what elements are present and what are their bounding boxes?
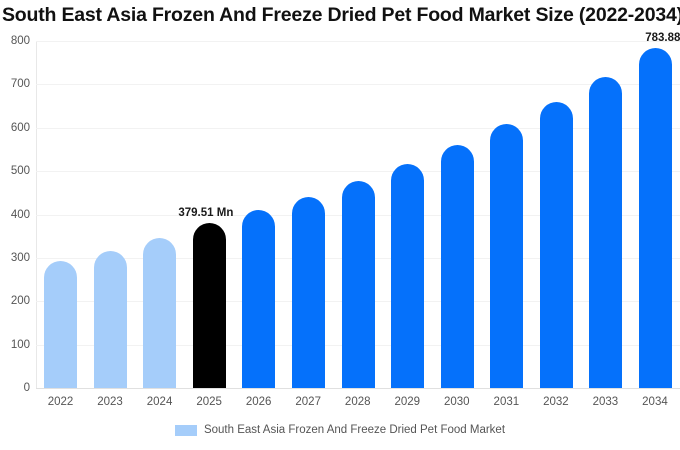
- chart-title: South East Asia Frozen And Freeze Dried …: [2, 2, 680, 28]
- x-axis-tick-label: 2031: [482, 396, 531, 408]
- legend-label: South East Asia Frozen And Freeze Dried …: [204, 424, 505, 436]
- y-axis-tick-label: 500: [0, 165, 36, 177]
- bar-chart: South East Asia Frozen And Freeze Dried …: [0, 0, 680, 450]
- y-axis-tick-label: 100: [0, 339, 36, 351]
- bar[interactable]: [441, 145, 474, 388]
- y-axis-tick-label: 300: [0, 252, 36, 264]
- bar[interactable]: [540, 102, 573, 388]
- bar[interactable]: [342, 181, 375, 388]
- bar[interactable]: [94, 251, 127, 388]
- bar[interactable]: [639, 48, 672, 388]
- plot-area: 0100200300400500600700800: [36, 41, 680, 388]
- bar[interactable]: [292, 197, 325, 388]
- bar[interactable]: [193, 223, 226, 388]
- x-axis-tick-label: 2032: [531, 396, 580, 408]
- bar[interactable]: [44, 261, 77, 388]
- x-axis-tick-label: 2029: [383, 396, 432, 408]
- bar[interactable]: [242, 210, 275, 388]
- gridline: [36, 171, 680, 172]
- bar-value-label: 783.88 Mn: [645, 32, 680, 44]
- gridline: [36, 41, 680, 42]
- bar[interactable]: [143, 238, 176, 388]
- x-axis-tick-label: 2022: [36, 396, 85, 408]
- bar[interactable]: [490, 124, 523, 388]
- x-axis-tick-label: 2023: [86, 396, 135, 408]
- y-axis-tick-label: 0: [0, 382, 36, 394]
- x-axis-tick-label: 2025: [185, 396, 234, 408]
- bar[interactable]: [391, 164, 424, 388]
- y-axis-tick-label: 600: [0, 122, 36, 134]
- x-axis-tick-label: 2033: [581, 396, 630, 408]
- y-axis-tick-label: 700: [0, 78, 36, 90]
- bar-value-label: 379.51 Mn: [178, 207, 233, 219]
- x-axis-tick-label: 2026: [234, 396, 283, 408]
- chart-legend: South East Asia Frozen And Freeze Dried …: [0, 424, 680, 436]
- gridline: [36, 128, 680, 129]
- y-axis-tick-label: 200: [0, 295, 36, 307]
- legend-swatch-icon: [175, 425, 197, 436]
- y-axis-tick-label: 800: [0, 35, 36, 47]
- gridline: [36, 84, 680, 85]
- x-axis-tick-label: 2034: [630, 396, 679, 408]
- x-axis-tick-label: 2030: [432, 396, 481, 408]
- x-axis-tick-label: 2028: [333, 396, 382, 408]
- x-axis-line: [36, 388, 680, 389]
- x-axis-tick-label: 2027: [284, 396, 333, 408]
- x-axis-tick-label: 2024: [135, 396, 184, 408]
- bar[interactable]: [589, 77, 622, 388]
- y-axis-tick-label: 400: [0, 209, 36, 221]
